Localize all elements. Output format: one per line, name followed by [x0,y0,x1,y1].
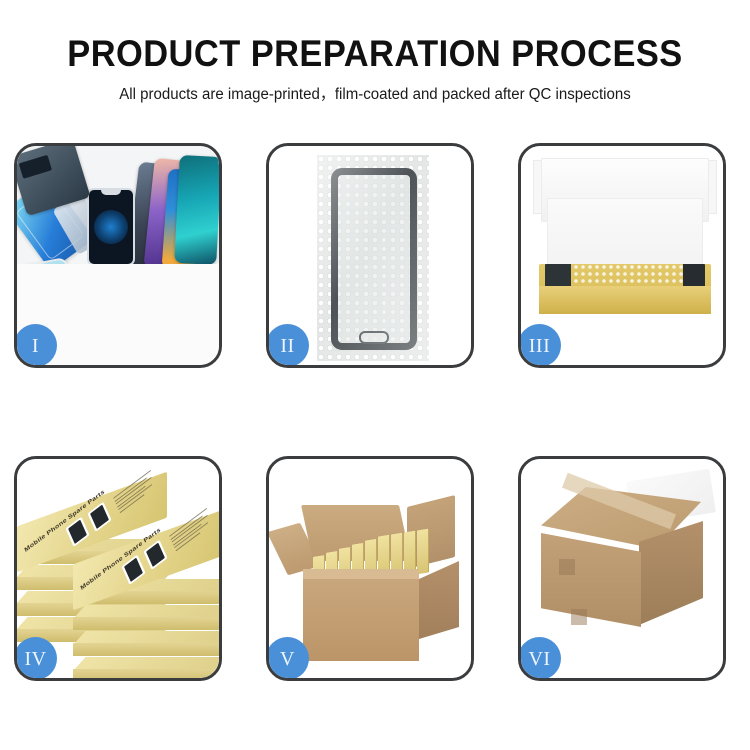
retail-box-layer [73,657,219,678]
button-flex-part [125,292,131,308]
step-badge-5: V [266,637,309,680]
sealed-carton-front-panel [541,533,641,627]
packed-screen-in-box [545,264,705,288]
step-badge-3: III [518,324,561,367]
tweezers-tool [189,273,219,287]
retail-box-layer [73,631,219,657]
carton-seam-mark [571,609,587,625]
flex-cable-part [65,314,91,319]
screw-part [203,342,212,346]
page-title: PRODUCT PREPARATION PROCESS [26,0,724,76]
camera-module-part [75,328,85,342]
step-badge-4: IV [14,637,57,680]
process-step-2[interactable]: II [266,143,474,368]
antenna-strip-part [71,296,87,301]
process-step-5[interactable]: V [266,456,474,681]
process-step-1[interactable]: I [14,143,222,368]
phone-device-4 [174,155,219,265]
process-step-grid: I II III [14,143,736,681]
phone-front-display [87,188,135,266]
poster-header: PRODUCT PREPARATION PROCESS All products… [0,0,750,105]
process-step-6[interactable]: VI [518,456,726,681]
process-step-3[interactable]: III [518,143,726,368]
process-step-4[interactable]: Mobile Phone Spare Parts Mobile Phone Sp… [14,456,222,681]
product-preparation-poster: PRODUCT PREPARATION PROCESS All products… [0,0,750,750]
speaker-part [93,332,105,343]
kraft-box-front-panel [539,286,711,314]
step-badge-1: I [14,324,57,367]
wrap-gloss-overlay [317,155,429,361]
page-subtitle: All products are image-printed，film-coat… [11,76,739,105]
step-badge-2: II [266,324,309,367]
charging-port-part [109,306,131,311]
earpiece-part [63,286,97,290]
gold-contact-part [129,276,147,282]
carton-front-panel [303,579,419,661]
retail-box-layer [73,605,219,631]
step-badge-6: VI [518,637,561,680]
vibration-motor-part [91,274,112,295]
carton-hand-hole [559,559,575,575]
sim-tray-part [112,330,122,342]
connector-grid-part [91,304,121,328]
